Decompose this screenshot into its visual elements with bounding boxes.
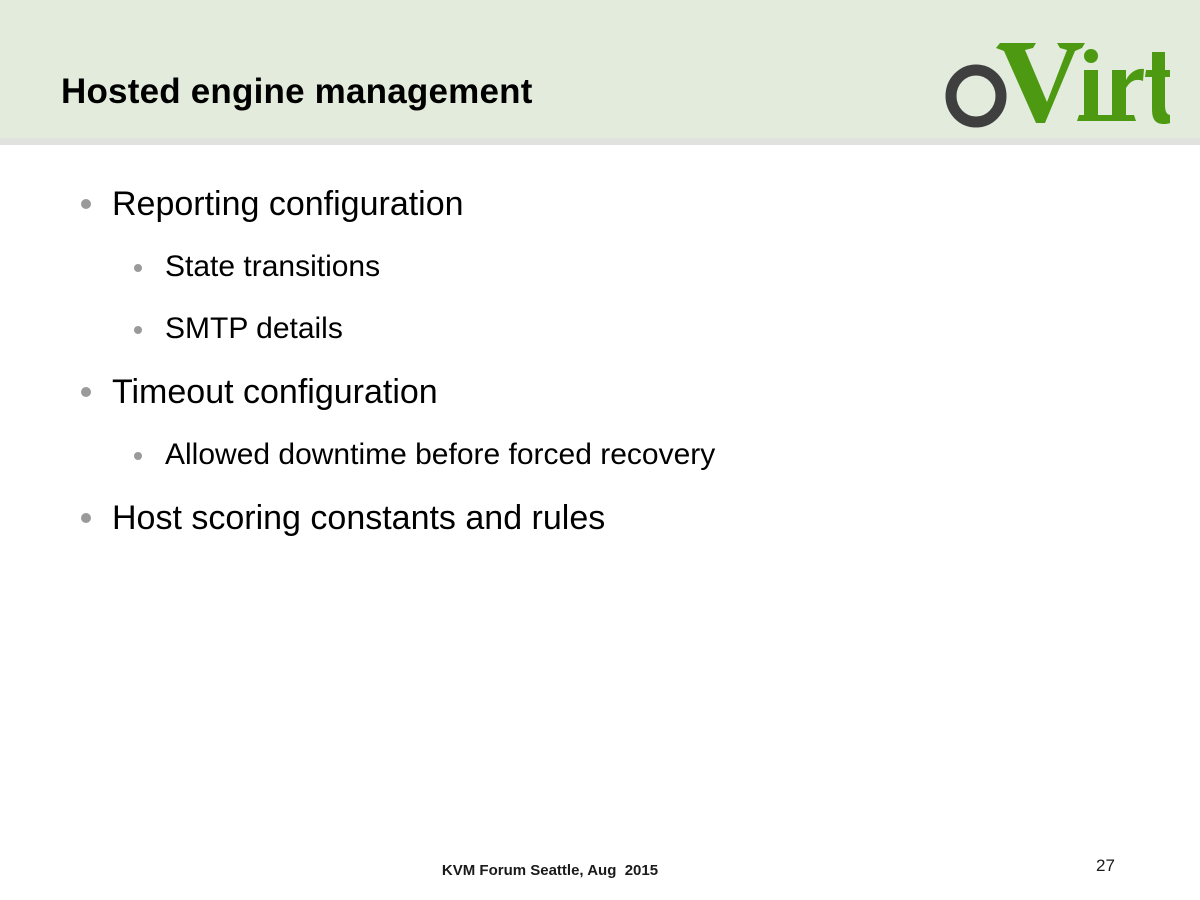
bullet-dot-icon <box>134 452 142 460</box>
list-item: SMTP details <box>0 298 1200 360</box>
list-item-label: Reporting configuration <box>112 172 464 236</box>
list-item-label: Allowed downtime before forced recovery <box>165 424 715 486</box>
list-item: Reporting configuration <box>0 172 1200 236</box>
slide-page-number: 27 <box>1096 856 1146 876</box>
presentation-slide: Hosted engine management Reporting con <box>0 0 1200 900</box>
list-item: State transitions <box>0 236 1200 298</box>
page-title: Hosted engine management <box>61 70 921 114</box>
list-item-label: SMTP details <box>165 298 343 360</box>
list-item-label: State transitions <box>165 236 380 298</box>
slide-header-divider <box>0 138 1200 145</box>
ovirt-logo-letters-virt <box>996 43 1170 124</box>
list-item-label: Host scoring constants and rules <box>112 486 605 550</box>
ovirt-logo <box>944 24 1170 132</box>
ovirt-logo-letter-o <box>951 70 1001 122</box>
list-item: Timeout configuration <box>0 360 1200 424</box>
bullet-dot-icon <box>134 326 142 334</box>
list-item: Host scoring constants and rules <box>0 486 1200 550</box>
bullet-dot-icon <box>81 199 91 209</box>
list-item: Allowed downtime before forced recovery <box>0 424 1200 486</box>
slide-bullet-list: Reporting configuration State transition… <box>0 172 1200 550</box>
bullet-dot-icon <box>81 513 91 523</box>
bullet-dot-icon <box>134 264 142 272</box>
footer-conference-note: KVM Forum Seattle, Aug 2015 <box>0 862 1100 879</box>
ovirt-logo-icon <box>944 24 1170 132</box>
list-item-label: Timeout configuration <box>112 360 438 424</box>
bullet-dot-icon <box>81 387 91 397</box>
